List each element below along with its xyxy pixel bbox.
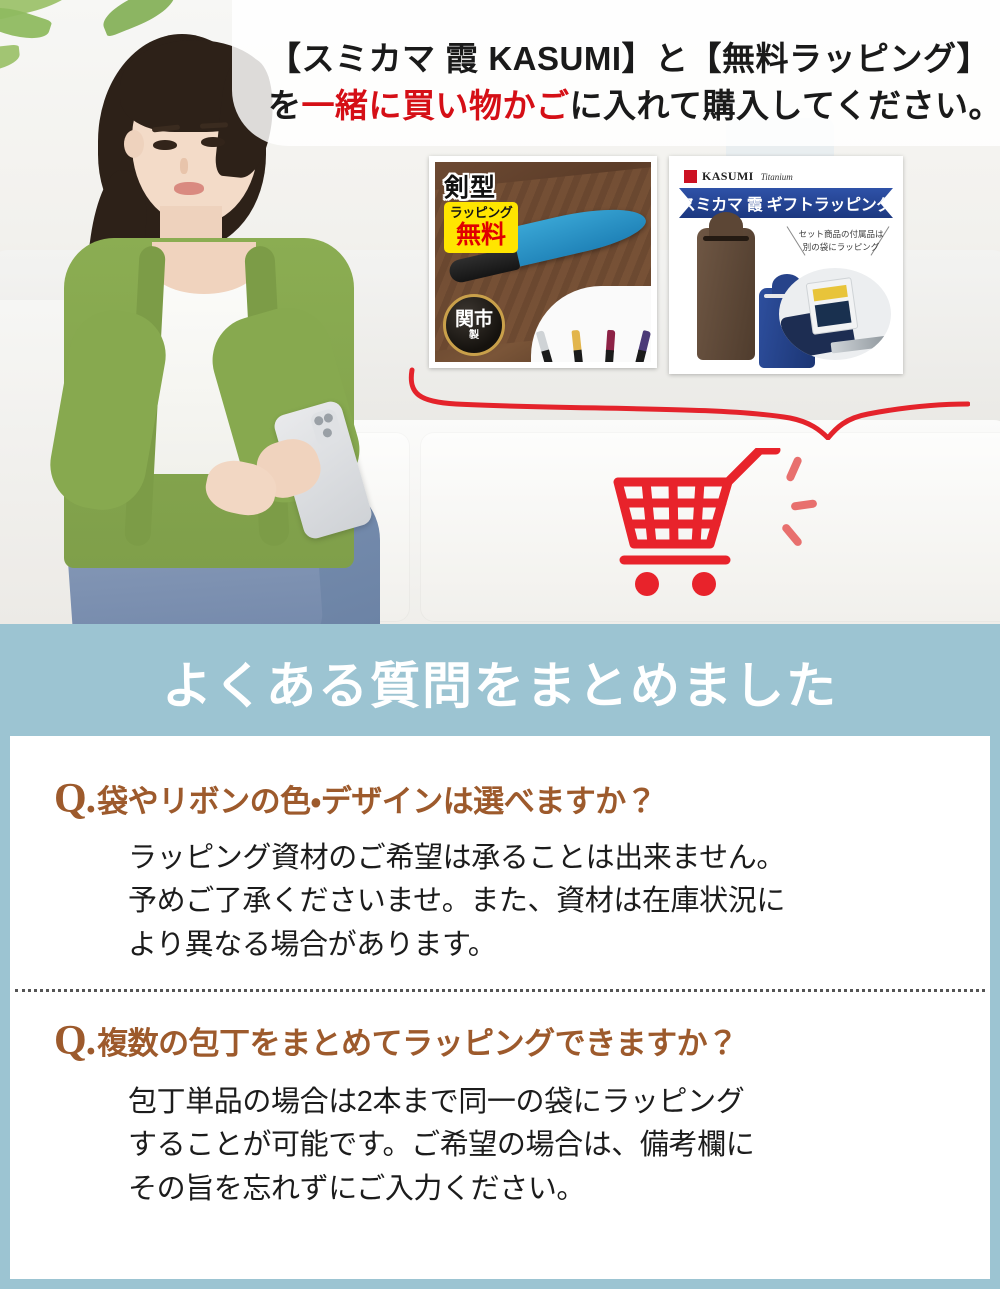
curved-arrow-icon [390,360,970,440]
faq-question-1: 袋やリボンの色・デザインは選べますか？ [97,778,656,821]
accessory-inset-photo [779,268,891,360]
product-card-wrapping[interactable]: KASUMI Titanium スミカマ 霞 ギフトラッピング セット商品の付属… [669,156,903,374]
accessory-note-line-1: セット商品の付属品は [793,228,889,241]
brown-gift-bag [697,228,755,360]
headline-line-2-pre: を [268,87,302,124]
faq-item-1: Q. 袋やリボンの色・デザインは選べますか？ ラッピング資材のご希望は承ることは… [10,736,990,967]
kasumi-logo: KASUMI Titanium [684,169,793,184]
kasumi-brand-sub: Titanium [761,172,793,182]
faq-answer-1-line-1: ラッピング資材のご希望は承ることは出来ません。 [128,837,990,881]
faq-answer-2-line-3: その旨を忘れずにご入力ください。 [128,1168,990,1212]
gift-wrapping-ribbon: スミカマ 霞 ギフトラッピング [679,188,893,218]
faq-title: よくある質問をまとめました [0,646,1000,718]
faq-question-2: 複数の包丁をまとめてラッピングできますか？ [97,1020,738,1063]
faq-item-2: Q. 複数の包丁をまとめてラッピングできますか？ 包丁単品の場合は2本まで同一の… [10,992,990,1211]
seal-main-text: 関市 [455,310,493,329]
accessory-note: セット商品の付属品は 別の袋にラッピング [793,228,889,254]
hero-headline: 【スミカマ 霞 KASUMI】と【無料ラッピング】 を一緒に買い物かごに入れて購… [268,36,988,130]
accessory-note-line-2: 別の袋にラッピング [793,241,889,254]
kasumi-brand-name: KASUMI [702,169,754,184]
faq-answer-2-line-1: 包丁単品の場合は2本まで同一の袋にラッピング [128,1081,990,1125]
faq-answer-1-line-3: より異なる場合があります。 [128,924,990,968]
shopping-cart-icon[interactable] [610,448,790,598]
promo-page: 【スミカマ 霞 KASUMI】と【無料ラッピング】 を一緒に買い物かごに入れて購… [0,0,1000,1289]
badge-wrapping-label: ラッピング [450,205,513,220]
q-mark-icon-1: Q. [54,778,95,820]
ribbon-label: スミカマ 霞 ギフトラッピング [680,191,892,215]
faq-section: よくある質問をまとめました Q. 袋やリボンの色・デザインは選べますか？ ラッピ… [0,624,1000,1289]
product-card-knife[interactable]: 剣型 ラッピング 無料 関市 製 [429,156,657,368]
faq-question-row-2[interactable]: Q. 複数の包丁をまとめてラッピングできますか？ [54,1020,990,1063]
hero-section: 【スミカマ 霞 KASUMI】と【無料ラッピング】 を一緒に買い物かごに入れて購… [0,0,1000,624]
faq-answer-1-line-2: 予めご了承くださいませ。また、資材は在庫状況に [128,880,990,924]
headline-line-1: 【スミカマ 霞 KASUMI】と【無料ラッピング】 [268,40,990,77]
faq-question-row-1[interactable]: Q. 袋やリボンの色・デザインは選べますか？ [54,778,990,821]
headline-line-2-post: に入れて購入してください。 [570,87,1000,124]
faq-answer-1: ラッピング資材のご希望は承ることは出来ません。 予めご了承くださいませ。また、資… [128,837,990,968]
badge-free-label: 無料 [444,223,518,248]
kasumi-logo-mark [684,170,697,183]
faq-answer-2-line-2: することが可能です。ご希望の場合は、備考欄に [128,1124,990,1168]
faq-card: Q. 袋やリボンの色・デザインは選べますか？ ラッピング資材のご希望は承ることは… [10,736,990,1279]
free-wrapping-badge: ラッピング 無料 [444,202,518,253]
q-mark-icon-2: Q. [54,1020,95,1062]
seal-sub-text: 製 [469,331,479,341]
faq-answer-2: 包丁単品の場合は2本まで同一の袋にラッピング することが可能です。ご希望の場合は… [128,1081,990,1212]
seki-city-seal: 関市 製 [443,294,505,356]
knife-type-label: 剣型 [444,168,496,204]
headline-line-2-highlight: 一緒に買い物かご [302,87,570,124]
